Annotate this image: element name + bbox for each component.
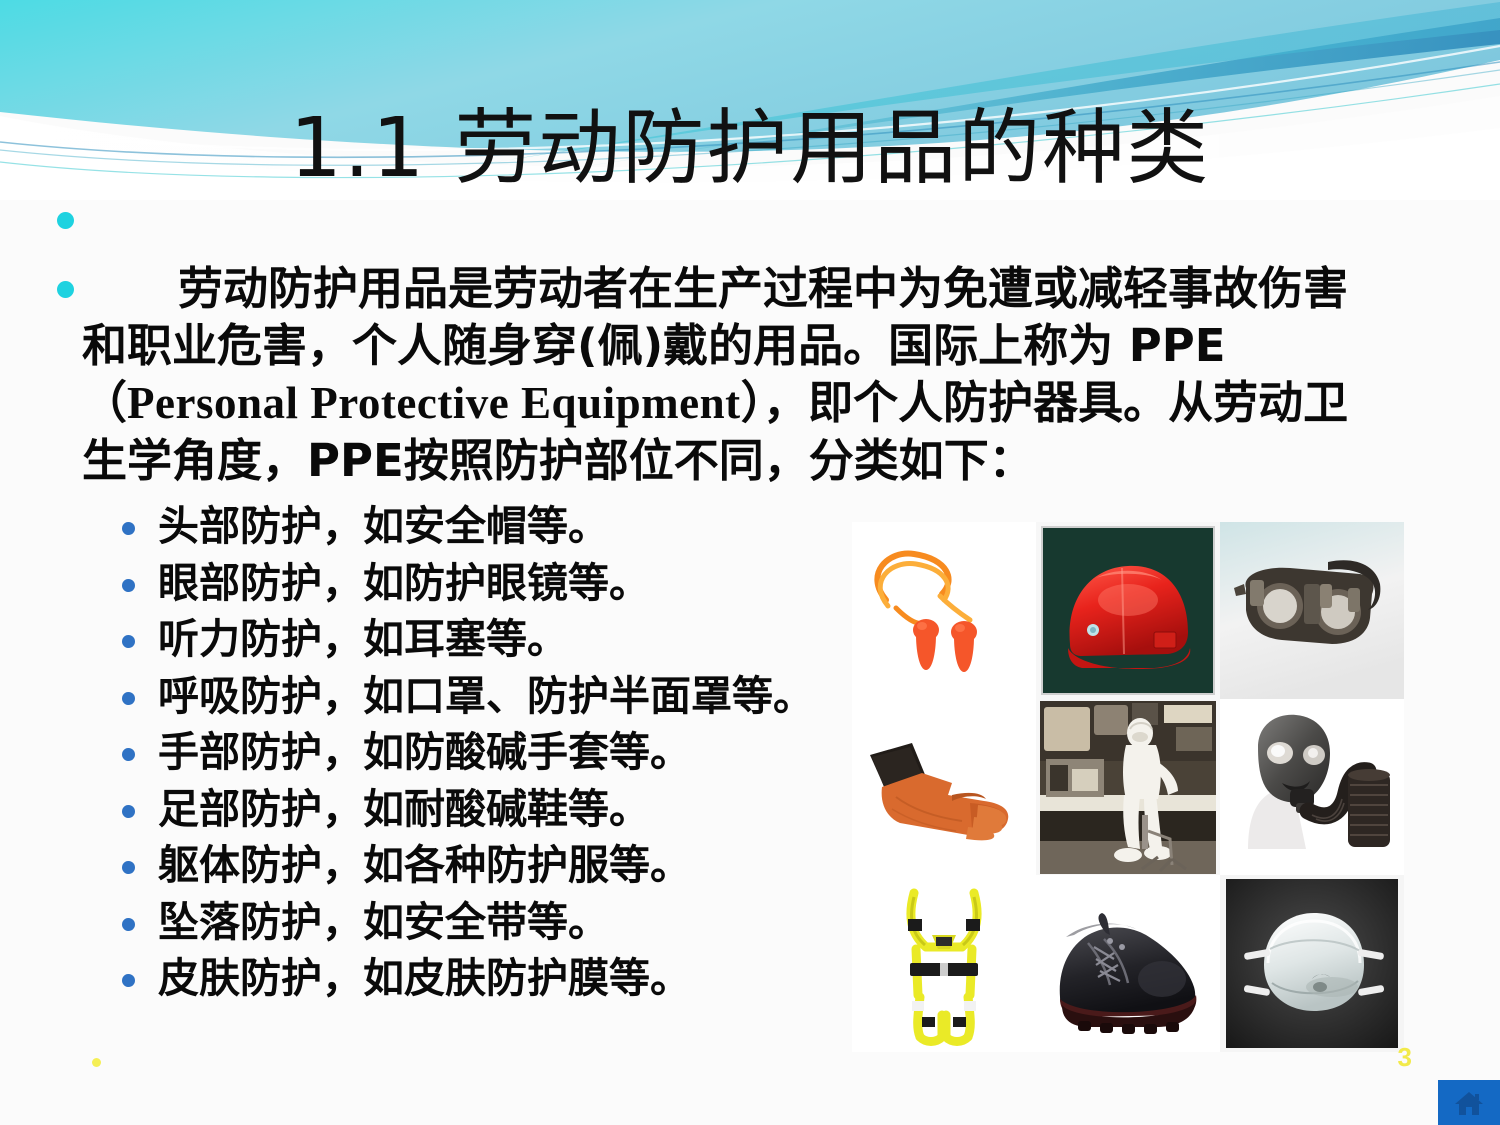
corner-accent-dot [92, 1058, 101, 1067]
home-button[interactable] [1438, 1080, 1500, 1125]
bullet-dot-icon [122, 579, 135, 592]
list-item: 足部防护，如耐酸碱鞋等。 [110, 781, 870, 838]
corded-earplugs-photo [852, 522, 1036, 699]
bullet-dot-icon [122, 805, 135, 818]
ppe-photo-grid [852, 522, 1404, 1052]
intro-paragraph: 劳动防护用品是劳动者在生产过程中为免遭或减轻事故伤害和职业危害，个人随身穿(佩)… [82, 260, 1392, 489]
list-item: 眼部防护，如防护眼镜等。 [110, 555, 870, 612]
list-item-label: 眼部防护，如防护眼镜等。 [158, 559, 650, 607]
safety-shoe-photo [1036, 875, 1220, 1052]
bullet-dot-icon [122, 748, 135, 761]
bullet-dot-empty [57, 212, 74, 229]
gas-mask-photo [1220, 699, 1404, 876]
photo-cell [1036, 522, 1220, 699]
photo-cell [1220, 875, 1404, 1052]
list-item: 皮肤防护，如皮肤防护膜等。 [110, 950, 870, 1007]
slide-title: 1.1 劳动防护用品的种类 [0, 106, 1500, 192]
bullet-dot-icon [122, 918, 135, 931]
list-item: 头部防护，如安全帽等。 [110, 498, 870, 555]
home-icon [1454, 1090, 1484, 1116]
list-item-label: 躯体防护，如各种防护服等。 [158, 841, 691, 889]
list-item-label: 坠落防护，如安全带等。 [158, 898, 609, 946]
photo-cell [852, 522, 1036, 699]
photo-cell [852, 699, 1036, 876]
list-item: 躯体防护，如各种防护服等。 [110, 837, 870, 894]
list-item: 手部防护，如防酸碱手套等。 [110, 724, 870, 781]
page-number: 3 [1398, 1042, 1412, 1073]
welding-goggles-photo [1220, 522, 1404, 699]
list-item-label: 呼吸防护，如口罩、防护半面罩等。 [158, 672, 814, 720]
photo-cell [1220, 699, 1404, 876]
list-item-label: 皮肤防护，如皮肤防护膜等。 [158, 954, 691, 1002]
bullet-dot-intro [57, 281, 74, 298]
photo-cell [1220, 522, 1404, 699]
protection-category-list: 头部防护，如安全帽等。 眼部防护，如防护眼镜等。 听力防护，如耳塞等。 呼吸防护… [110, 498, 870, 1007]
leather-gloves-photo [852, 699, 1036, 876]
bullet-dot-icon [122, 974, 135, 987]
safety-harness-photo [852, 875, 1036, 1052]
red-hard-hat-photo [1036, 522, 1220, 699]
list-item: 呼吸防护，如口罩、防护半面罩等。 [110, 668, 870, 725]
list-item-label: 手部防护，如防酸碱手套等。 [158, 728, 691, 776]
photo-cell [1036, 875, 1220, 1052]
photo-cell [852, 875, 1036, 1052]
intro-text-english: Personal Protective Equipment [127, 378, 741, 428]
bullet-dot-icon [122, 692, 135, 705]
bullet-dot-icon [122, 635, 135, 648]
protective-suit-photo [1036, 699, 1220, 876]
bullet-dot-icon [122, 522, 135, 535]
list-item: 听力防护，如耳塞等。 [110, 611, 870, 668]
dust-mask-photo [1220, 875, 1404, 1052]
list-item-label: 听力防护，如耳塞等。 [158, 615, 568, 663]
photo-cell [1036, 699, 1220, 876]
list-item: 坠落防护，如安全带等。 [110, 894, 870, 951]
list-item-label: 足部防护，如耐酸碱鞋等。 [158, 785, 650, 833]
list-item-label: 头部防护，如安全帽等。 [158, 502, 609, 550]
bullet-dot-icon [122, 861, 135, 874]
